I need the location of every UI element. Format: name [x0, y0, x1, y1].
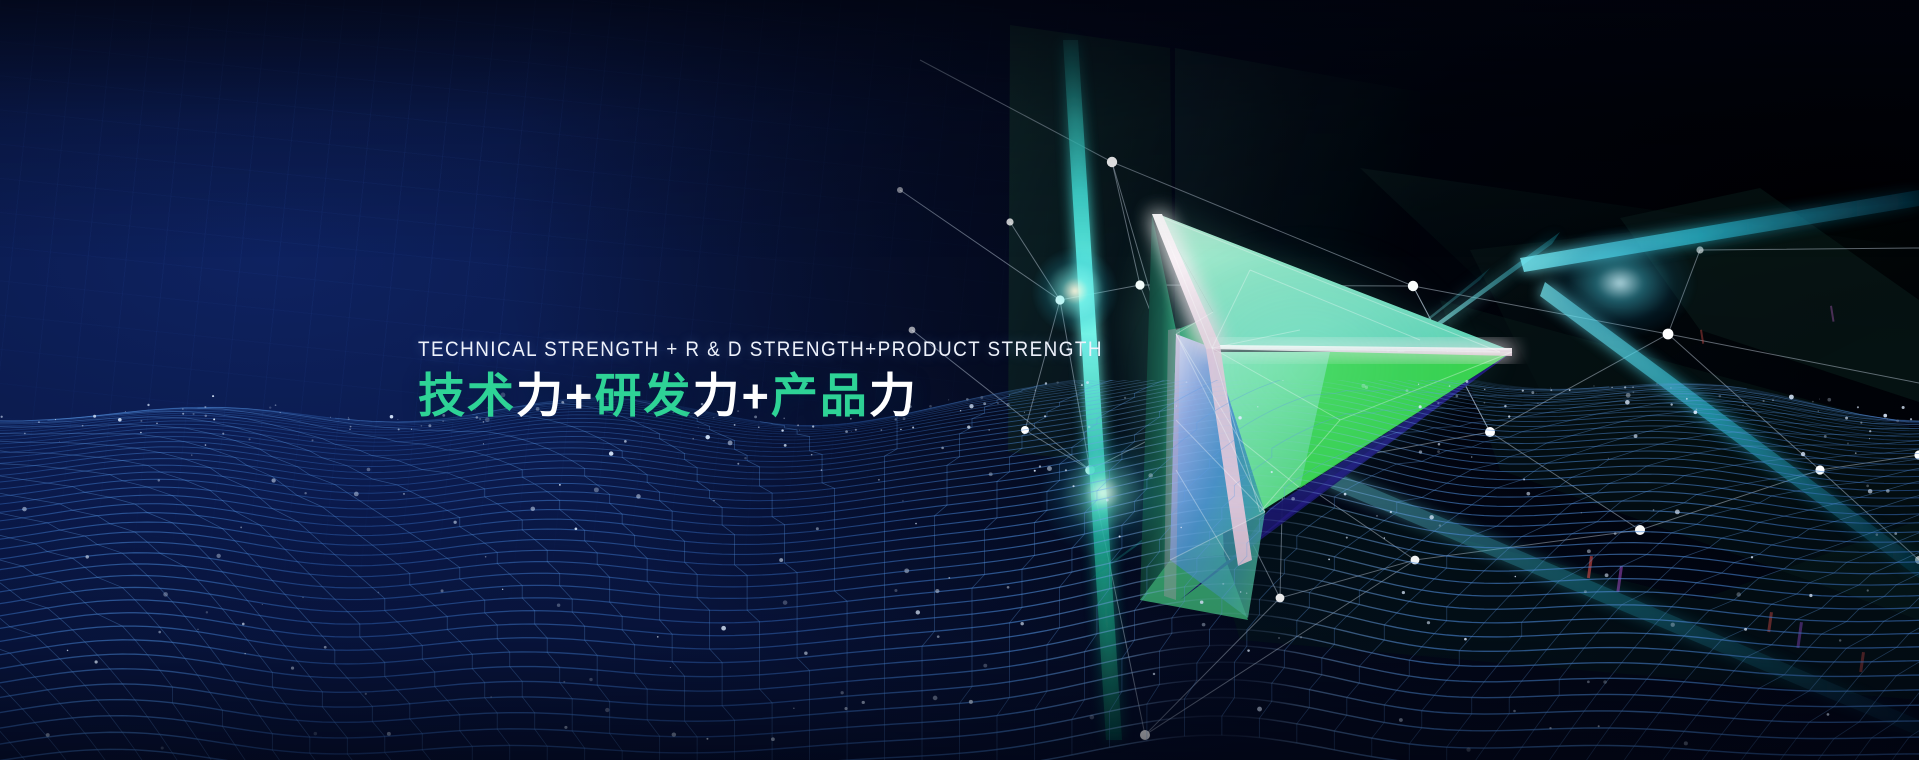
chinese-headline: 技术力+研发力+产品力	[418, 370, 1038, 423]
headline-block: TECHNICAL STRENGTH + R & D STRENGTH+PROD…	[418, 338, 1038, 423]
cn-seg-2: +	[565, 369, 594, 422]
cn-seg-6: 产品	[771, 369, 869, 422]
cn-seg-0: 技术	[418, 369, 516, 422]
cn-seg-5: +	[741, 369, 770, 422]
cn-seg-7: 力	[869, 369, 918, 422]
cn-seg-3: 研发	[594, 369, 692, 422]
wave-terrain	[0, 380, 1919, 760]
english-tagline: TECHNICAL STRENGTH + R & D STRENGTH+PROD…	[418, 338, 976, 361]
cn-seg-1: 力	[516, 369, 565, 422]
hero-banner: TECHNICAL STRENGTH + R & D STRENGTH+PROD…	[0, 0, 1919, 760]
cn-seg-4: 力	[692, 369, 741, 422]
